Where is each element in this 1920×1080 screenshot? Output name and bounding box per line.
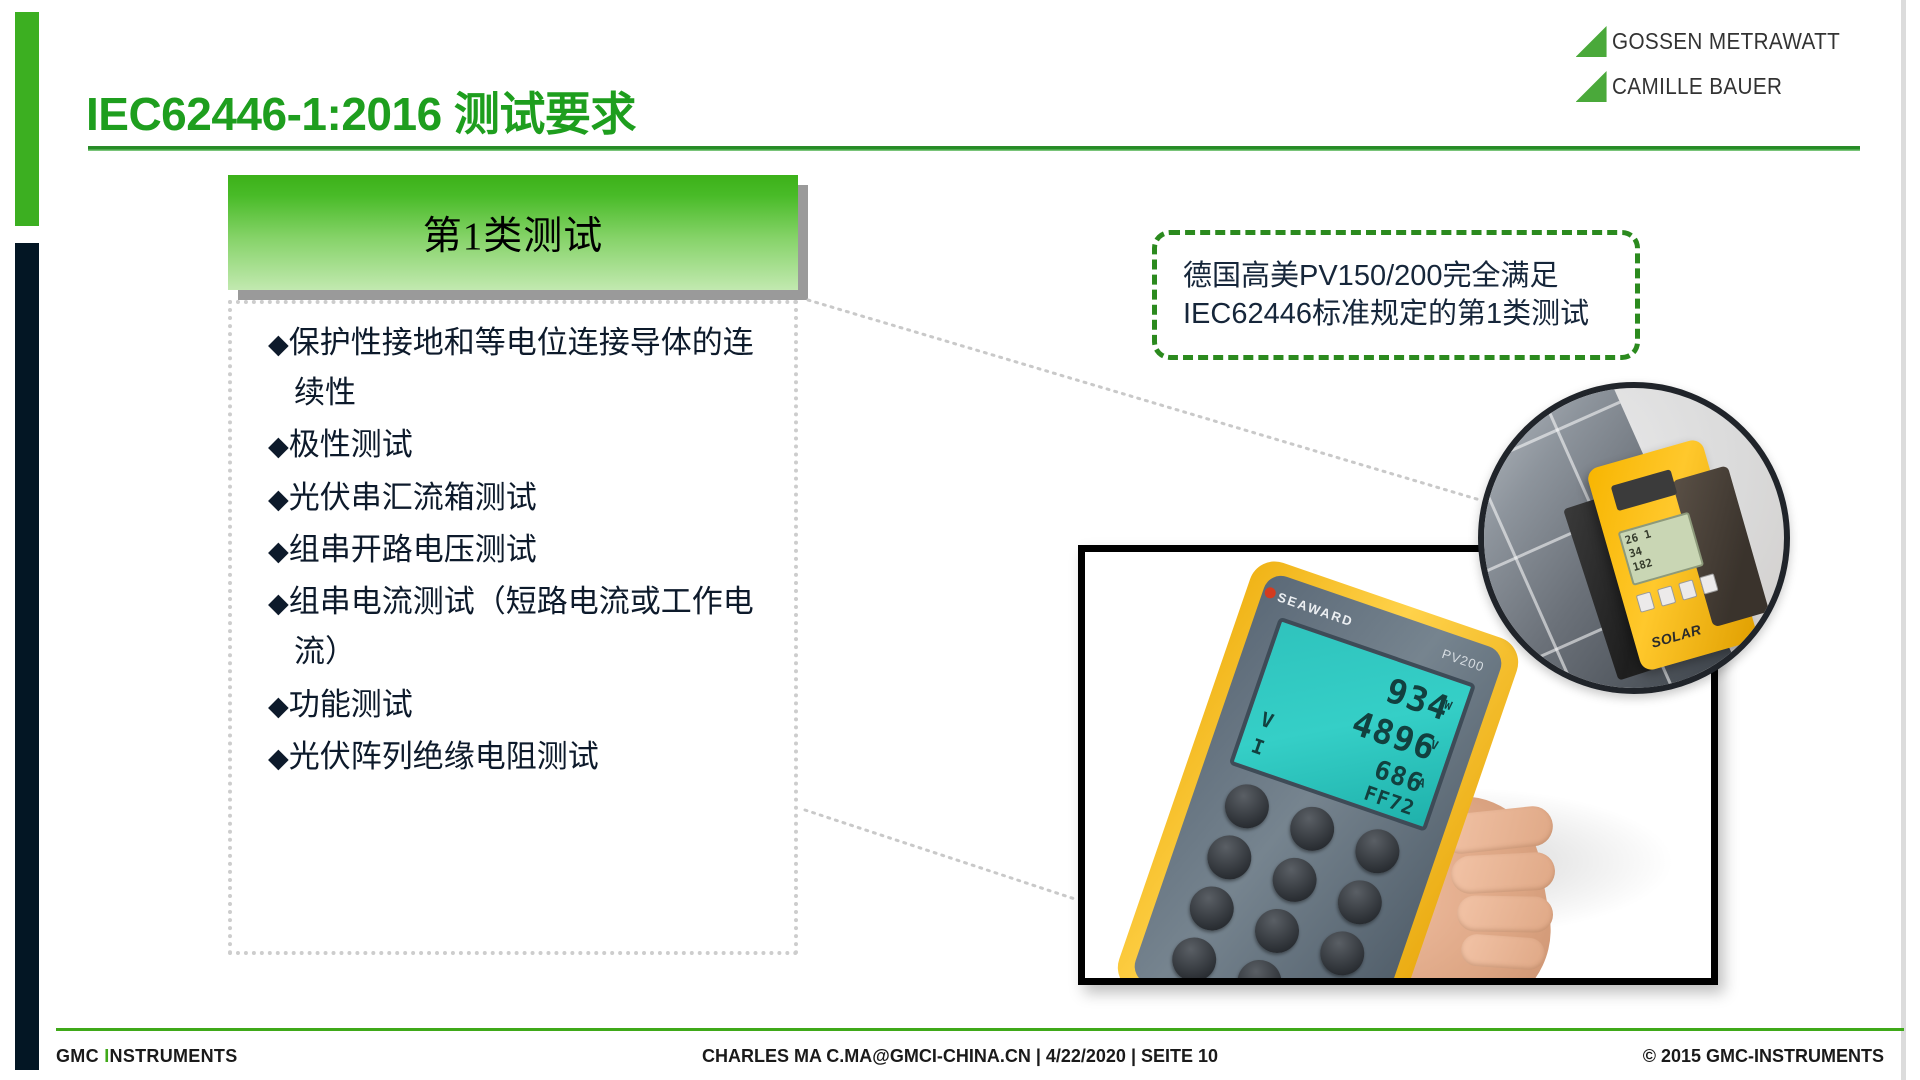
page-title: IEC62446-1:2016 测试要求 (86, 78, 636, 144)
list-item: ◆光伏串汇流箱测试 (268, 473, 773, 523)
footer-brand-suffix: NSTRUMENTS (110, 1046, 238, 1066)
finger-shape (1457, 895, 1554, 933)
keypad-button[interactable] (1314, 925, 1370, 981)
meter-port (1636, 591, 1655, 612)
keypad-button[interactable] (1184, 881, 1240, 937)
finger-shape (1450, 851, 1556, 894)
meter-port (1657, 585, 1676, 606)
diamond-bullet-icon: ◆ (268, 431, 289, 461)
list-item: ◆组串开路电压测试 (268, 525, 773, 575)
keypad-button[interactable] (1284, 801, 1340, 857)
lcd-label-current: I (1248, 733, 1267, 760)
banner-label: 第1类测试 (423, 205, 604, 261)
footer-brand-prefix: GMC (56, 1046, 104, 1066)
keypad-button[interactable] (1231, 954, 1287, 985)
solar-brand-label: SOLAR (1649, 621, 1703, 651)
bullet-list: ◆保护性接地和等电位连接导体的连续性 ◆极性测试 ◆光伏串汇流箱测试 ◆组串开路… (268, 318, 773, 784)
callout-box: 德国高美PV150/200完全满足 IEC62446标准规定的第1类测试 (1152, 230, 1640, 360)
keypad-button[interactable] (1267, 852, 1323, 908)
slide-canvas: IEC62446-1:2016 测试要求 GOSSEN METRAWATT CA… (0, 0, 1920, 1080)
footer-brand: GMC INSTRUMENTS (56, 1046, 238, 1067)
keypad-button[interactable] (1296, 976, 1352, 985)
keypad-button[interactable] (1202, 830, 1258, 886)
solar-survey-circle-photo: 26 1 34 182 SOLAR (1478, 382, 1790, 694)
callout-line-1: 德国高美PV150/200完全满足 (1183, 257, 1635, 295)
list-item: ◆极性测试 (268, 420, 773, 470)
keypad-button[interactable] (1349, 823, 1405, 879)
meter-port (1678, 579, 1697, 600)
list-item-label: 保护性接地和等电位连接导体的连续性 (289, 325, 754, 410)
connector-line-bottom (805, 810, 1078, 900)
list-item-label: 光伏阵列绝缘电阻测试 (289, 739, 599, 774)
list-item-label: 功能测试 (289, 687, 413, 722)
diamond-bullet-icon: ◆ (268, 484, 289, 514)
diamond-bullet-icon: ◆ (268, 691, 289, 721)
brand-logo-camille-bauer: CAMILLE BAUER (1576, 71, 1865, 102)
list-item-label: 组串开路电压测试 (289, 532, 537, 567)
right-edge-border (1901, 0, 1906, 1080)
brand-logo-block: GOSSEN METRAWATT CAMILLE BAUER (1576, 26, 1865, 102)
list-item-label: 组串电流测试（短路电流或工作电流） (289, 584, 754, 669)
callout-line-2: IEC62446标准规定的第1类测试 (1183, 295, 1635, 333)
brand-name-label: CAMILLE BAUER (1612, 73, 1782, 100)
list-item: ◆组串电流测试（短路电流或工作电流） (268, 577, 773, 677)
brand-name-label: GOSSEN METRAWATT (1612, 28, 1840, 55)
keypad-button[interactable] (1249, 903, 1305, 959)
circle-meter-lcd: 26 1 34 182 (1618, 512, 1705, 586)
left-accent-bar-dark (15, 243, 39, 1070)
list-item: ◆保护性接地和等电位连接导体的连续性 (268, 318, 773, 418)
finger-shape (1460, 933, 1546, 971)
footer-author-meta: CHARLES MA C.MA@GMCI-CHINA.CN | 4/22/202… (702, 1046, 1218, 1067)
list-item: ◆光伏阵列绝缘电阻测试 (268, 732, 773, 782)
seaward-logo-dot-icon (1263, 586, 1277, 600)
diamond-bullet-icon: ◆ (268, 588, 289, 618)
list-item: ◆功能测试 (268, 680, 773, 730)
list-item-label: 极性测试 (289, 427, 413, 462)
diamond-bullet-icon: ◆ (268, 536, 289, 566)
footer-copyright: © 2015 GMC-INSTRUMENTS (1643, 1046, 1884, 1067)
keypad-button[interactable] (1219, 779, 1275, 835)
left-accent-bar-green (15, 12, 39, 226)
diamond-bullet-icon: ◆ (268, 743, 289, 773)
list-item-label: 光伏串汇流箱测试 (289, 480, 537, 515)
meter-model-label: PV200 (1440, 646, 1487, 675)
lcd-label-voltage: V (1257, 707, 1276, 734)
green-triangle-icon (1576, 26, 1607, 57)
title-underline-rule (88, 146, 1860, 151)
keypad-button[interactable] (1332, 874, 1388, 930)
brand-logo-gossen-metrawatt: GOSSEN METRAWATT (1576, 26, 1865, 57)
keypad-button[interactable] (1167, 932, 1223, 985)
meter-top-slot (1611, 469, 1678, 511)
category-banner: 第1类测试 (228, 175, 798, 290)
diamond-bullet-icon: ◆ (268, 329, 289, 359)
footer-rule (56, 1028, 1904, 1031)
green-triangle-icon (1576, 71, 1607, 102)
